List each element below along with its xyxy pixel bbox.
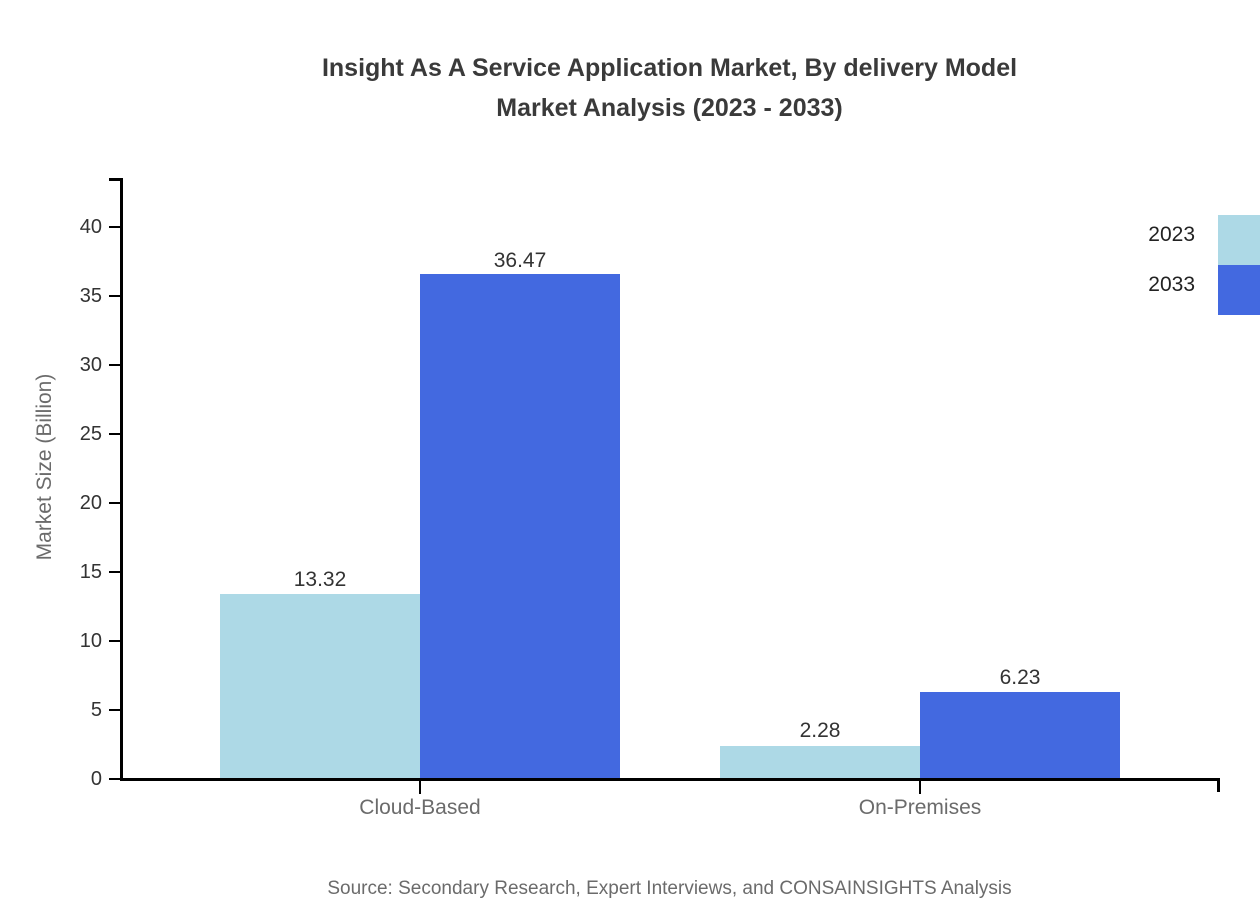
y-tick-mark bbox=[109, 226, 120, 228]
bar-value-2023-on-premises: 2.28 bbox=[800, 719, 841, 743]
x-tick-label-cloud-based: Cloud-Based bbox=[359, 796, 480, 820]
bar-2023-cloud-based[interactable] bbox=[220, 594, 420, 778]
x-tick-label-on-premises: On-Premises bbox=[859, 796, 982, 820]
y-tick-label: 30 bbox=[54, 355, 102, 375]
bar-2023-on-premises[interactable] bbox=[720, 746, 920, 778]
chart-figure: Insight As A Service Application Market,… bbox=[0, 0, 1260, 920]
y-axis-line bbox=[120, 178, 123, 781]
y-tick-mark bbox=[109, 709, 120, 711]
bar-value-2033-on-premises: 6.23 bbox=[1000, 666, 1041, 690]
y-axis-label: Market Size (Billion) bbox=[33, 267, 57, 667]
legend-item-2033[interactable]: 2033 bbox=[1120, 265, 1260, 315]
y-tick-mark bbox=[109, 640, 120, 642]
y-tick-label: 5 bbox=[54, 700, 102, 720]
bar-value-2023-cloud-based: 13.32 bbox=[294, 568, 347, 592]
legend-label-2033: 2033 bbox=[1148, 273, 1195, 297]
y-tick-label: 40 bbox=[54, 217, 102, 237]
y-tick-label: 15 bbox=[54, 562, 102, 582]
x-tick-mark bbox=[919, 781, 921, 794]
bar-value-2033-cloud-based: 36.47 bbox=[494, 249, 547, 273]
chart-legend: 2023 2033 bbox=[1120, 215, 1260, 315]
source-note: Source: Secondary Research, Expert Inter… bbox=[0, 878, 1260, 900]
y-tick-label: 20 bbox=[54, 493, 102, 513]
y-tick-mark bbox=[109, 433, 120, 435]
y-tick-label: 0 bbox=[54, 769, 102, 789]
x-tick-mark bbox=[419, 781, 421, 794]
legend-swatch-2033 bbox=[1218, 265, 1260, 315]
y-tick-label: 10 bbox=[54, 631, 102, 651]
bar-2033-cloud-based[interactable] bbox=[420, 274, 620, 778]
legend-item-2023[interactable]: 2023 bbox=[1120, 215, 1260, 265]
y-tick-mark bbox=[109, 502, 120, 504]
x-axis-end-cap bbox=[1217, 778, 1220, 792]
chart-title: Insight As A Service Application Market,… bbox=[0, 48, 1260, 128]
chart-title-line-2: Market Analysis (2023 - 2033) bbox=[0, 88, 1260, 128]
bar-2033-on-premises[interactable] bbox=[920, 692, 1120, 778]
y-tick-label: 35 bbox=[54, 286, 102, 306]
y-tick-mark bbox=[109, 778, 120, 780]
legend-label-2023: 2023 bbox=[1148, 223, 1195, 247]
x-axis-line bbox=[120, 778, 1220, 781]
legend-swatch-2023 bbox=[1218, 215, 1260, 265]
y-tick-mark bbox=[109, 571, 120, 573]
plot-area: 0 5 10 15 20 25 30 35 40 13.32 36.47 Clo… bbox=[120, 178, 1220, 781]
y-tick-mark bbox=[109, 364, 120, 366]
chart-title-line-1: Insight As A Service Application Market,… bbox=[0, 48, 1260, 88]
y-tick-mark bbox=[109, 295, 120, 297]
y-tick-label: 25 bbox=[54, 424, 102, 444]
y-axis-top-cap bbox=[109, 178, 123, 181]
